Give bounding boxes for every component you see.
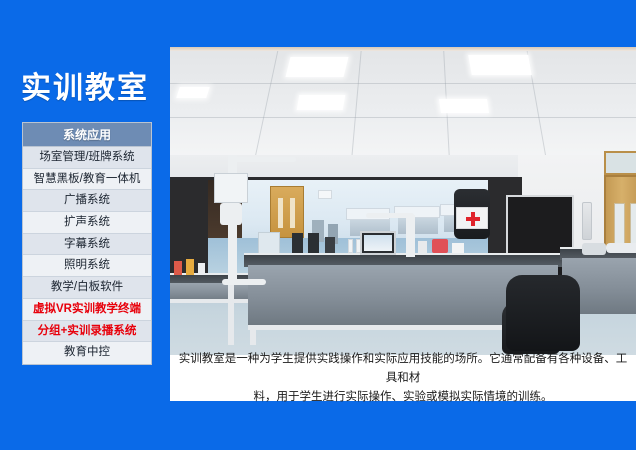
ceiling-light-panel <box>176 87 210 98</box>
foreground-chair <box>506 275 580 351</box>
render-door-glass <box>290 198 295 228</box>
lab-bench-main-leg <box>250 325 256 345</box>
desk-lamp-pole <box>406 215 415 257</box>
menu-item-vr-training-terminal[interactable]: 虚拟VR实训教学终端 <box>23 299 151 321</box>
desk-item <box>418 241 427 253</box>
ceiling-light-panel <box>297 95 346 110</box>
caption-text: 实训教室是一种为学生提供实践操作和实际应用技能的场所。它通常配备有各种设备、工具… <box>170 350 636 407</box>
menu-item-group-recording-system[interactable]: 分组+实训录播系统 <box>23 321 151 343</box>
render-bench-body <box>398 218 438 234</box>
desk-red-tray <box>432 239 448 253</box>
desk-vial <box>348 239 353 253</box>
classroom-photo <box>170 47 636 355</box>
ceiling-light-panel <box>286 57 349 77</box>
lab-bench-left-rail <box>170 299 256 303</box>
caption-line-1: 实训教室是一种为学生提供实践操作和实际应用技能的场所。它通常配备有各种设备、工具… <box>178 350 628 388</box>
desk-item <box>198 263 205 275</box>
desk-instrument <box>308 233 319 253</box>
menu-item-label: 智慧黑板/教育一体机 <box>34 173 141 185</box>
desk-red-item <box>174 261 182 275</box>
ceiling-light-panel <box>439 99 489 113</box>
ceiling-grid-line <box>351 51 361 157</box>
render-wall-sign <box>318 190 332 199</box>
menu-item-broadcast-system[interactable]: 广播系统 <box>23 190 151 212</box>
render-door-glass <box>278 198 283 228</box>
desk-item <box>452 243 464 253</box>
ceiling-grid-line <box>255 51 279 157</box>
ceiling-edge-trim <box>170 47 636 51</box>
laptop <box>360 231 396 255</box>
menu-item-education-central-control[interactable]: 教育中控 <box>23 342 151 364</box>
render-door <box>270 186 304 238</box>
menu-item-label: 扩声系统 <box>64 216 110 228</box>
red-cross-icon <box>466 217 480 221</box>
menu-item-room-management[interactable]: 场室管理/班牌系统 <box>23 147 151 169</box>
equipment-monitor <box>214 173 248 203</box>
ceiling-grid-line <box>170 117 636 118</box>
desk-lamp-arm <box>366 213 414 218</box>
caption-line-2: 料，用于学生进行实际操作、实验或模拟实际情境的训练。 <box>178 388 628 407</box>
first-aid-box <box>456 207 488 229</box>
caption-box: 实训教室是一种为学生提供实践操作和实际应用技能的场所。它通常配备有各种设备、工具… <box>170 355 636 401</box>
menu-item-amplification-system[interactable]: 扩声系统 <box>23 212 151 234</box>
menu-item-subtitle-system[interactable]: 字幕系统 <box>23 234 151 256</box>
desk-instrument <box>325 237 335 253</box>
menu-item-label: 分组+实训录播系统 <box>38 325 137 337</box>
door-transom-window <box>604 151 636 175</box>
menu-item-teaching-whiteboard-software[interactable]: 教学/白板软件 <box>23 277 151 299</box>
menu-item-smart-blackboard[interactable]: 智慧黑板/教育一体机 <box>23 169 151 191</box>
wall-speaker <box>582 202 592 240</box>
ceiling <box>170 47 636 159</box>
desk-yellow-item <box>186 259 194 275</box>
left-panel: 实训教室 系统应用 场室管理/班牌系统 智慧黑板/教育一体机 广播系统 扩声系统… <box>0 0 170 450</box>
page-title: 实训教室 <box>0 72 170 106</box>
ceiling-light-panel <box>468 55 532 75</box>
equipment-arm <box>230 157 296 162</box>
menu-item-label: 教学/白板软件 <box>51 281 123 293</box>
menu-item-label: 虚拟VR实训教学终端 <box>33 303 141 315</box>
menu-item-label: 广播系统 <box>64 194 110 206</box>
menu-item-label: 教育中控 <box>64 346 110 358</box>
training-arm-model <box>606 243 636 253</box>
slide-root: 实训教室 系统应用 场室管理/班牌系统 智慧黑板/教育一体机 广播系统 扩声系统… <box>0 0 636 450</box>
desk-instrument <box>292 233 303 253</box>
equipment-head <box>220 203 242 225</box>
ceiling-grid-line <box>170 83 636 84</box>
menu-item-label: 照明系统 <box>64 259 110 271</box>
menu-item-lighting-system[interactable]: 照明系统 <box>23 255 151 277</box>
menu-item-label: 场室管理/班牌系统 <box>39 151 134 163</box>
desk-item <box>582 243 606 255</box>
menu-item-label: 字幕系统 <box>64 238 110 250</box>
menu-header-system-application: 系统应用 <box>23 123 151 147</box>
lab-bench-left-leg <box>228 283 234 345</box>
system-application-menu: 系统应用 场室管理/班牌系统 智慧黑板/教育一体机 广播系统 扩声系统 字幕系统… <box>22 122 152 365</box>
menu-header-label: 系统应用 <box>63 128 111 142</box>
laptop-screen <box>364 235 392 251</box>
equipment-base <box>222 279 266 285</box>
